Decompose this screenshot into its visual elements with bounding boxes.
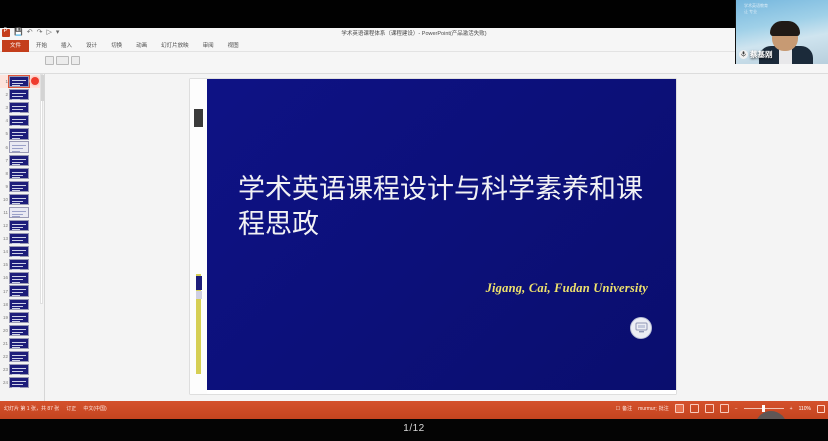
thumbnail-line: [12, 132, 26, 133]
thumbnail-line: [12, 371, 23, 372]
powerpoint-window: 💾 ↶ ↷ ▷ ▾ 学术英语课程体系（课程建设）- PowerPoint(产品激…: [0, 28, 828, 419]
thumbnail-preview: [9, 377, 29, 388]
thumbnail-line: [12, 83, 23, 84]
strip-marker-grey: [196, 291, 202, 299]
ribbon-tab-0[interactable]: 文件: [2, 40, 29, 52]
section-icon[interactable]: [71, 56, 80, 65]
thumbnail-line: [12, 188, 23, 189]
slide-thumbnail-13[interactable]: 13: [0, 232, 42, 245]
thumbnail-line: [12, 211, 26, 212]
thumbnail-preview: [9, 364, 29, 375]
thumbnail-line: [12, 164, 20, 165]
zoom-level-label[interactable]: 110%: [799, 406, 811, 412]
thumbnail-line: [12, 316, 26, 317]
slide-surface[interactable]: 学术英语课程设计与科学素养和课程思政 Jigang, Cai, Fudan Un…: [207, 79, 676, 390]
status-left-group: 幻灯片 第 1 张，共 87 张 订正 中文(中国): [4, 405, 107, 412]
notes-toggle-button[interactable]: ☐ 备注: [616, 405, 633, 412]
slide-thumbnail-22[interactable]: 22: [0, 350, 42, 363]
thumbnail-number: 24: [0, 376, 9, 389]
recording-dot-icon[interactable]: [31, 77, 39, 85]
thumbnail-number: 9: [0, 180, 9, 193]
thumbnail-preview: [9, 115, 29, 126]
thumbnail-line: [12, 381, 26, 382]
ribbon-tab-1[interactable]: 开始: [29, 40, 54, 52]
thumbnail-number: 16: [0, 271, 9, 284]
slide-thumbnail-11[interactable]: 11: [0, 206, 42, 219]
ribbon-tab-4[interactable]: 切换: [104, 40, 129, 52]
thumbnail-line: [12, 119, 26, 120]
thumbnail-line: [12, 303, 26, 304]
thumbnail-line: [12, 151, 20, 152]
thumbnail-number: 15: [0, 258, 9, 271]
slide-thumbnail-7[interactable]: 7: [0, 154, 42, 167]
bottom-letterbox: 1/12: [0, 419, 828, 441]
thumbnail-preview: [9, 338, 29, 349]
slide-thumbnail-20[interactable]: 20: [0, 324, 42, 337]
thumbnail-line: [12, 224, 26, 225]
window-title: 学术英语课程体系（课程建设）- PowerPoint(产品激活失败): [0, 29, 828, 37]
thumbnail-preview: [9, 325, 29, 336]
slide-thumbnail-2[interactable]: 2: [0, 88, 42, 101]
thumbnail-line: [12, 292, 23, 293]
thumbnail-preview: [9, 259, 29, 270]
thumbnail-line: [12, 332, 23, 333]
normal-view-icon[interactable]: [675, 404, 684, 413]
thumbnail-line: [12, 321, 20, 322]
slide-edit-area[interactable]: 学术英语课程设计与科学素养和课程思政 Jigang, Cai, Fudan Un…: [45, 74, 828, 401]
ribbon-tab-3[interactable]: 设计: [79, 40, 104, 52]
mic-glyph: [741, 51, 746, 57]
comments-label: 批注: [659, 405, 669, 412]
thumbnail-line: [12, 266, 23, 267]
thumbnail-line: [12, 80, 26, 81]
slide-thumbnail-15[interactable]: 15: [0, 258, 42, 271]
thumbnail-line: [12, 112, 20, 113]
thumbnail-line: [12, 145, 26, 146]
thumbnail-number: 8: [0, 167, 9, 180]
thumbnail-line: [12, 360, 20, 361]
slide-thumbnail-24[interactable]: 24: [0, 376, 42, 389]
thumbnail-line: [12, 295, 20, 296]
thumbnail-line: [12, 109, 23, 110]
thumbnail-line: [12, 172, 26, 173]
thumbnail-number: 3: [0, 101, 9, 114]
status-right-group: ☐ 备注 murmur; 批注 − + 110%: [616, 404, 825, 413]
presenter-glyph: [635, 322, 648, 333]
comment-icon: murmur;: [638, 406, 657, 412]
ribbon-mini-tools[interactable]: [45, 56, 80, 65]
work-area: 1+23456789101112131415161718192021222324: [0, 74, 828, 401]
ribbon-tab-6[interactable]: 幻灯片放映: [154, 40, 196, 52]
thumbnail-line: [12, 99, 20, 100]
slide-thumbnail-17[interactable]: 17: [0, 285, 42, 298]
thumbnail-number: 14: [0, 245, 9, 258]
thumbnail-line: [12, 289, 26, 290]
thumbnail-line: [12, 85, 20, 86]
thumbnail-preview: [9, 233, 29, 244]
thumbnail-number: 22: [0, 350, 9, 363]
thumbnail-line: [12, 93, 26, 94]
thumbnail-line: [12, 334, 20, 335]
slide-thumbnail-14[interactable]: 14: [0, 245, 42, 258]
slide-left-margin-strip: [190, 79, 207, 394]
thumbnail-line: [12, 282, 20, 283]
thumbnail-number: 20: [0, 324, 9, 337]
thumbnail-line: [12, 263, 26, 264]
thumbnail-line: [12, 276, 26, 277]
thumbnail-line: [12, 138, 20, 139]
slideshow-view-icon[interactable]: [720, 404, 729, 413]
thumbnail-line: [12, 198, 26, 199]
slide-thumbnail-19[interactable]: 19: [0, 311, 42, 324]
thumbnail-line: [12, 374, 20, 375]
thumbnail-preview: [9, 141, 29, 152]
slide-thumbnail-pane[interactable]: 1+23456789101112131415161718192021222324: [0, 74, 45, 401]
thumbnail-line: [12, 240, 23, 241]
slide-thumbnail-12[interactable]: 12: [0, 219, 42, 232]
thumbnail-number: 19: [0, 311, 9, 324]
thumbnail-preview: [9, 220, 29, 231]
thumbnail-line: [12, 227, 23, 228]
page-indicator: 1/12: [0, 423, 828, 434]
participant-name-badge: 蔡基刚: [739, 49, 773, 60]
ribbon-tab-5[interactable]: 动画: [129, 40, 154, 52]
thumbnail-preview: [9, 168, 29, 179]
ribbon-body: [0, 52, 828, 74]
thumbnail-line: [12, 387, 20, 388]
slide-thumbnail-8[interactable]: 8: [0, 167, 42, 180]
thumbnail-line: [12, 122, 23, 123]
thumbnail-number: 5: [0, 127, 9, 140]
thumbnail-line: [12, 319, 23, 320]
thumbnail-line: [12, 201, 23, 202]
zoom-out-button[interactable]: −: [735, 406, 738, 412]
slide-thumbnail-1[interactable]: 1+: [0, 75, 42, 88]
screen-root: 💾 ↶ ↷ ▷ ▾ 学术英语课程体系（课程建设）- PowerPoint(产品激…: [0, 0, 828, 441]
thumbnail-number: 4: [0, 114, 9, 127]
thumbnail-line: [12, 256, 20, 257]
slide-thumbnail-23[interactable]: 23: [0, 363, 42, 376]
slide-sorter-icon[interactable]: [690, 404, 699, 413]
thumbnail-number: 2: [0, 88, 9, 101]
thumbnail-line: [12, 306, 23, 307]
thumbnail-number: 13: [0, 232, 9, 245]
thumbnail-line: [12, 384, 23, 385]
reading-view-icon[interactable]: [705, 404, 714, 413]
new-slide-icon[interactable]: [45, 56, 54, 65]
participant-name: 蔡基刚: [750, 49, 773, 60]
thumbnail-line: [12, 250, 26, 251]
thumbnail-line: [12, 162, 23, 163]
slide-subtitle-text[interactable]: Jigang, Cai, Fudan University: [486, 281, 648, 296]
layout-icon[interactable]: [56, 56, 69, 65]
slide-counter[interactable]: 幻灯片 第 1 张，共 87 张: [4, 405, 59, 412]
participant-video-tile[interactable]: 学术英语教育让 专业 蔡基刚: [735, 0, 828, 64]
thumbnail-preview: [9, 194, 29, 205]
thumbnail-number: 7: [0, 154, 9, 167]
thumbnail-number: 21: [0, 337, 9, 350]
thumbnail-preview: [9, 246, 29, 257]
status-bar: 幻灯片 第 1 张，共 87 张 订正 中文(中国) ☐ 备注 murmur; …: [0, 401, 828, 419]
thumbnail-line: [12, 135, 23, 136]
slide-canvas[interactable]: 学术英语课程设计与科学素养和课程思政 Jigang, Cai, Fudan Un…: [190, 79, 676, 394]
thumbnail-line: [12, 253, 23, 254]
thumbnail-line: [12, 177, 20, 178]
thumbnail-scrollbar[interactable]: [40, 74, 43, 304]
slide-thumbnail-10[interactable]: 10: [0, 193, 42, 206]
thumbnail-preview: [9, 351, 29, 362]
thumbnail-number: 23: [0, 363, 9, 376]
thumbnail-line: [12, 347, 20, 348]
thumbnail-preview: [9, 207, 29, 218]
thumbnail-line: [12, 96, 23, 97]
thumbnail-preview: [9, 76, 29, 87]
thumbnail-line: [12, 329, 26, 330]
thumbnail-line: [12, 229, 20, 230]
thumbnail-preview: [9, 89, 29, 100]
thumbnail-line: [12, 125, 20, 126]
slide-thumbnail-18[interactable]: 18: [0, 298, 42, 311]
strip-marker-blue: [196, 276, 202, 290]
thumbnail-line: [12, 106, 26, 107]
thumbnail-line: [12, 214, 23, 215]
thumbnail-line: [12, 216, 20, 217]
fit-to-window-icon[interactable]: [817, 405, 825, 413]
thumbnail-number: 18: [0, 298, 9, 311]
ribbon-tab-strip: 文件开始插入设计切换动画幻灯片放映审阅视图: [0, 40, 828, 52]
ribbon-tab-7[interactable]: 审阅: [196, 40, 221, 52]
thumbnail-number: 10: [0, 193, 9, 206]
zoom-in-button[interactable]: +: [790, 406, 793, 412]
thumbnail-preview: [9, 285, 29, 296]
thumbnail-number: 12: [0, 219, 9, 232]
figure-hair: [770, 21, 800, 36]
thumbnail-preview: [9, 272, 29, 283]
video-banner-text: 学术英语教育让 专业: [744, 3, 768, 15]
microphone-icon: [739, 50, 748, 59]
thumbnail-line: [12, 159, 26, 160]
thumbnail-line: [12, 308, 20, 309]
thumbnail-line: [12, 345, 23, 346]
thumbnail-number: 11: [0, 206, 9, 219]
notes-icon: ☐: [616, 406, 620, 412]
slide-thumbnail-9[interactable]: 9: [0, 180, 42, 193]
slide-thumbnail-4[interactable]: 4: [0, 114, 42, 127]
thumbnail-preview: [9, 102, 29, 113]
presenter-view-icon[interactable]: [630, 317, 652, 339]
thumbnail-line: [12, 243, 20, 244]
thumbnail-number: 17: [0, 285, 9, 298]
thumbnail-line: [12, 342, 26, 343]
slide-title-text[interactable]: 学术英语课程设计与科学素养和课程思政: [238, 173, 658, 242]
thumbnail-preview: [9, 155, 29, 166]
title-bar: 💾 ↶ ↷ ▷ ▾ 学术英语课程体系（课程建设）- PowerPoint(产品激…: [0, 28, 828, 40]
language-indicator[interactable]: 中文(中国): [83, 405, 106, 412]
thumbnail-line: [12, 355, 26, 356]
thumbnail-line: [12, 190, 20, 191]
thumbnail-line: [12, 269, 20, 270]
thumbnail-line: [12, 368, 26, 369]
thumbnail-line: [12, 148, 23, 149]
ribbon-tab-8[interactable]: 视图: [221, 40, 246, 52]
thumbnail-line: [12, 358, 23, 359]
thumbnail-preview: [9, 181, 29, 192]
thumbnail-line: [12, 185, 26, 186]
slide-thumbnail-3[interactable]: 3: [0, 101, 42, 114]
ribbon-tab-2[interactable]: 插入: [54, 40, 79, 52]
thumbnail-number: 1: [0, 75, 9, 88]
thumbnail-preview: [9, 128, 29, 139]
comments-toggle-button[interactable]: murmur; 批注: [638, 405, 669, 412]
thumbnail-scrollbar-thumb[interactable]: [41, 75, 44, 101]
thumbnail-number: 6: [0, 141, 9, 154]
thumbnail-preview: [9, 312, 29, 323]
strip-marker-dark: [194, 109, 203, 127]
thumbnail-line: [12, 203, 20, 204]
slide-thumbnail-6[interactable]: 6: [0, 140, 42, 153]
zoom-slider-knob[interactable]: [762, 405, 765, 412]
video-strip-background: [0, 0, 735, 28]
thumbnail-line: [12, 237, 26, 238]
thumbnail-preview: [9, 299, 29, 310]
slide-thumbnail-16[interactable]: 16: [0, 271, 42, 284]
slide-thumbnail-21[interactable]: 21: [0, 337, 42, 350]
thumbnail-line: [12, 175, 23, 176]
slide-thumbnail-5[interactable]: 5: [0, 127, 42, 140]
theme-name[interactable]: 订正: [66, 405, 76, 412]
notes-label: 备注: [622, 405, 632, 412]
zoom-slider[interactable]: [744, 408, 784, 409]
thumbnail-line: [12, 279, 23, 280]
